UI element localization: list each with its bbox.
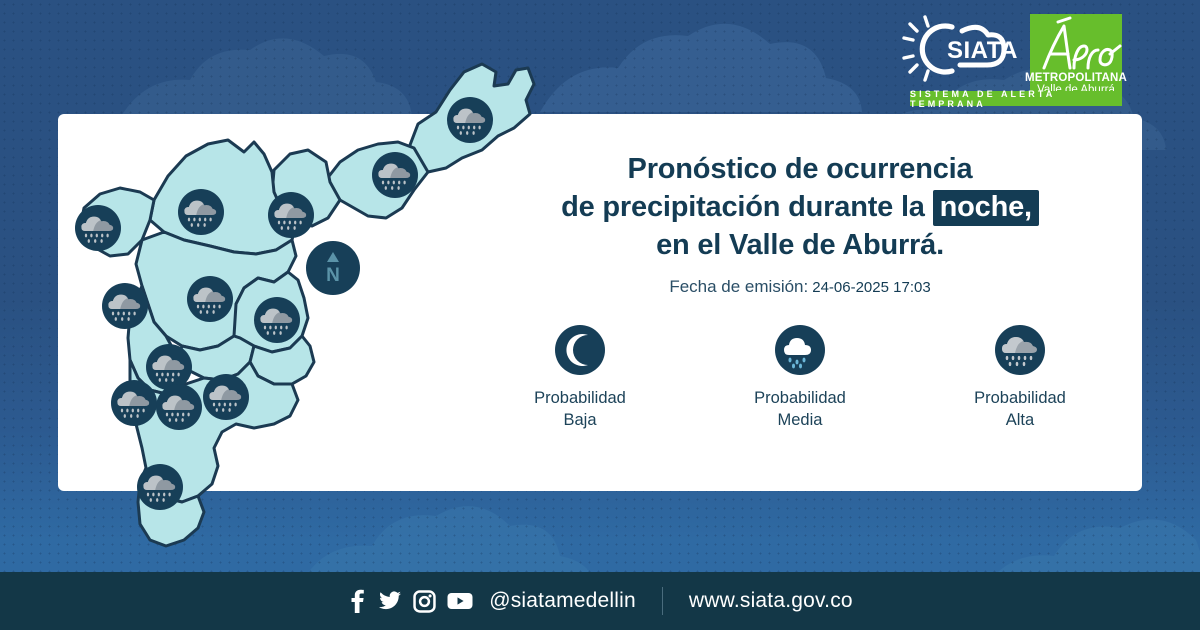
cloud-rain-icon <box>137 464 183 510</box>
emission-date-value: 24-06-2025 17:03 <box>812 279 930 296</box>
legend-media-line1: Probabilidad <box>754 387 846 409</box>
legend-label-baja: Probabilidad Baja <box>534 387 626 431</box>
website-url[interactable]: www.siata.gov.co <box>689 589 853 613</box>
moon-icon <box>555 325 605 375</box>
cloud-rain-icon <box>156 384 202 430</box>
map-marker-alta <box>447 97 493 143</box>
youtube-icon[interactable] <box>447 591 473 611</box>
legend-baja-line1: Probabilidad <box>534 387 626 409</box>
map-marker-alta <box>102 283 148 329</box>
cloud-rain-icon <box>102 283 148 329</box>
legend-label-alta: Probabilidad Alta <box>974 387 1066 431</box>
siata-logo: SIATA <box>900 14 1018 86</box>
cloud-rain-icon <box>447 97 493 143</box>
map-marker-alta <box>254 297 300 343</box>
map-marker-alta <box>372 152 418 198</box>
social-icons <box>347 589 473 613</box>
legend-media-line2: Media <box>754 409 846 431</box>
emission-date: Fecha de emisión:24-06-2025 17:03 <box>470 277 1130 297</box>
legend-item-alta: Probabilidad Alta <box>930 325 1110 431</box>
cloud-rain-icon <box>203 374 249 420</box>
map-marker-alta <box>187 276 233 322</box>
title-line-2-text: de precipitación durante la <box>561 191 925 223</box>
legend-alta-line2: Alta <box>974 409 1066 431</box>
legend-alta-line1: Probabilidad <box>974 387 1066 409</box>
title-highlight-noche: noche, <box>933 190 1039 226</box>
cloud-rain-icon <box>268 192 314 238</box>
page-title: Pronóstico de ocurrencia de precipitació… <box>470 150 1130 264</box>
map-marker-alta <box>75 205 121 251</box>
compass-label: N <box>326 265 340 286</box>
infographic-canvas: SIATA METROPOLITANA Valle de Aburrá SIST… <box>0 0 1200 630</box>
cloud-rain-icon <box>187 276 233 322</box>
map-marker-alta <box>137 464 183 510</box>
twitter-icon[interactable] <box>378 589 402 613</box>
siata-logo-mark: SIATA <box>900 14 1018 86</box>
compass-rose: N <box>306 241 360 295</box>
map-marker-alta <box>268 192 314 238</box>
cloud-moon-rain-icon <box>775 325 825 375</box>
instagram-icon[interactable] <box>413 590 436 613</box>
cloud-rain-icon <box>75 205 121 251</box>
cloud-rain-icon <box>111 380 157 426</box>
map-marker-alta <box>111 380 157 426</box>
map-marker-alta <box>203 374 249 420</box>
cloud-rain-icon <box>178 189 224 235</box>
map-marker-alta <box>156 384 202 430</box>
cloud-rain-icon <box>995 325 1045 375</box>
compass-icon: N <box>306 241 360 295</box>
footer-divider <box>662 587 663 615</box>
footer-bar: @siatamedellin www.siata.gov.co <box>0 572 1200 630</box>
legend-label-media: Probabilidad Media <box>754 387 846 431</box>
map-marker-alta <box>178 189 224 235</box>
facebook-icon[interactable] <box>347 589 367 613</box>
title-line-1: Pronóstico de ocurrencia <box>470 150 1130 188</box>
cloud-rain-icon <box>254 297 300 343</box>
legend: Probabilidad Baja Probabilidad Media <box>470 325 1130 431</box>
emission-date-label: Fecha de emisión: <box>669 277 808 296</box>
tagline-bar: SISTEMA DE ALERTA TEMPRANA <box>910 91 1122 106</box>
siata-logo-text: SIATA <box>947 37 1018 64</box>
social-handle[interactable]: @siatamedellin <box>489 589 636 613</box>
forecast-panel: Pronóstico de ocurrencia de precipitació… <box>470 150 1130 297</box>
map-container: N <box>58 50 578 570</box>
legend-baja-line2: Baja <box>534 409 626 431</box>
title-line-3: en el Valle de Aburrá. <box>470 226 1130 264</box>
area-script-icon <box>1030 16 1122 76</box>
cloud-rain-icon <box>372 152 418 198</box>
legend-item-media: Probabilidad Media <box>710 325 890 431</box>
title-line-2: de precipitación durante la noche, <box>470 188 1130 226</box>
legend-item-baja: Probabilidad Baja <box>490 325 670 431</box>
